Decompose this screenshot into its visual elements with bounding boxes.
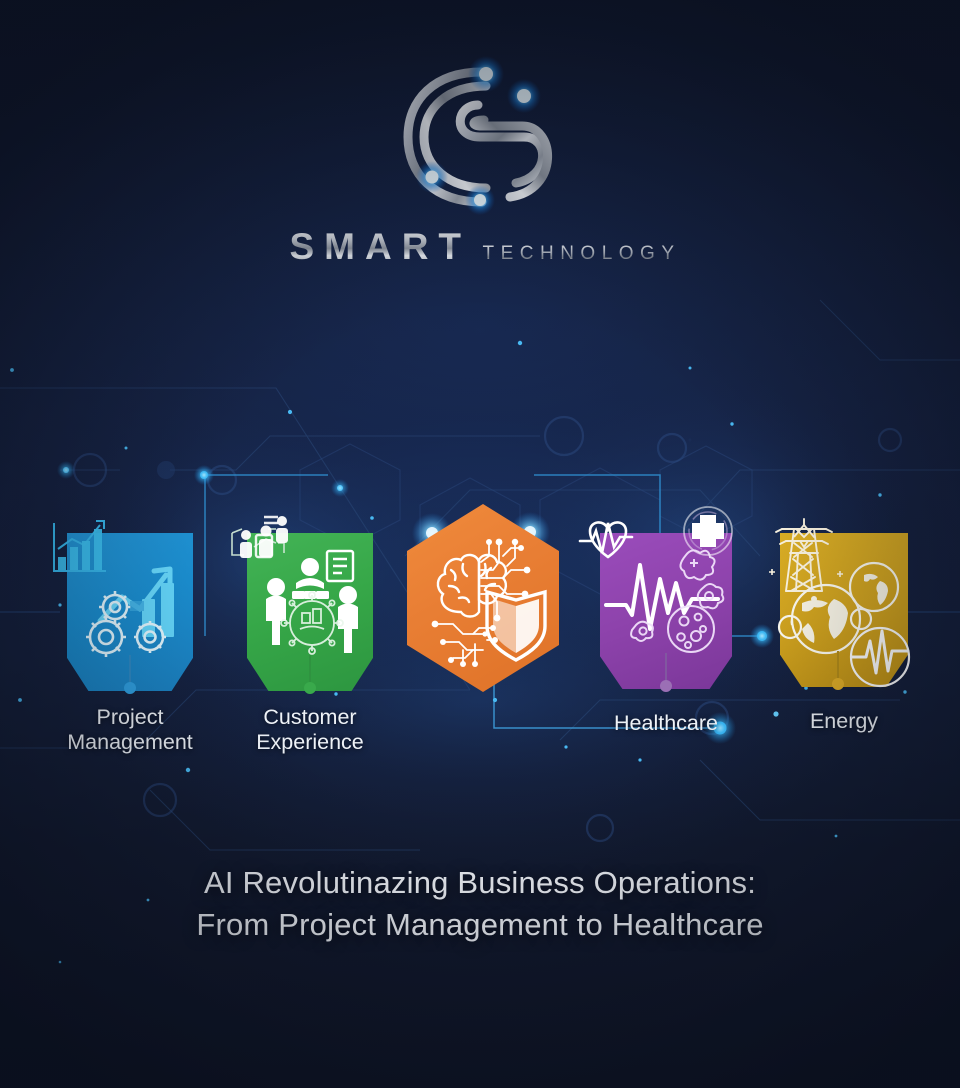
ai-brain-circuit-shield-icon <box>407 504 559 692</box>
badge-energy[interactable]: Energy <box>756 495 932 734</box>
smart-s-circuit-logo-icon <box>390 52 570 222</box>
badge-project-management[interactable]: Project Management <box>44 495 216 755</box>
badge-label-customer-experience: Customer Experience <box>224 705 396 755</box>
badge-healthcare[interactable]: Healthcare <box>578 495 754 736</box>
headline-block: AI Revolutinazing Business Operations: F… <box>0 862 960 946</box>
power-tower-globe-waveform-icon <box>756 495 932 695</box>
headline-line-1: AI Revolutinazing Business Operations: <box>0 862 960 904</box>
brand-wordmark: SMART TECHNOLOGY <box>0 228 960 265</box>
badge-label-energy: Energy <box>756 709 932 734</box>
badge-artificial-intelligence[interactable] <box>404 495 562 692</box>
badge-label-project-management: Project Management <box>44 705 216 755</box>
brand-name-secondary: TECHNOLOGY <box>475 244 680 263</box>
badge-customer-experience[interactable]: Customer Experience <box>224 495 396 755</box>
headline-line-2: From Project Management to Healthcare <box>0 904 960 946</box>
poster-canvas: SMART TECHNOLOGY <box>0 0 960 1088</box>
people-presentation-icon <box>224 495 396 695</box>
brand-logo-block: SMART TECHNOLOGY <box>0 52 960 265</box>
heartbeat-cells-cross-icon <box>578 495 754 695</box>
category-badge-row: Project Management <box>0 495 960 755</box>
badge-label-healthcare: Healthcare <box>578 711 754 736</box>
brand-name-primary: SMART <box>279 228 471 265</box>
growth-chart-gears-icon <box>44 495 216 695</box>
